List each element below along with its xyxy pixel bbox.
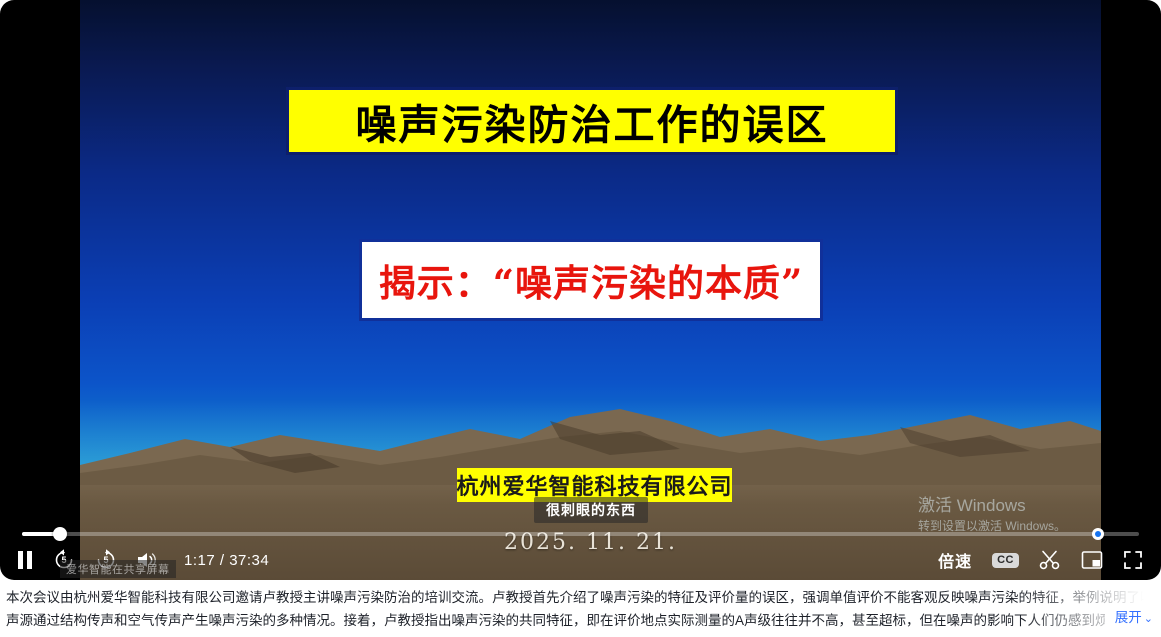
- closed-captions-button[interactable]: CC: [992, 553, 1019, 568]
- chapter-marker-dot[interactable]: [1092, 528, 1104, 540]
- fullscreen-icon[interactable]: [1123, 550, 1143, 570]
- playback-speed-button[interactable]: 倍速: [938, 548, 972, 572]
- rewind-5-seconds-button[interactable]: 5: [52, 548, 76, 572]
- pause-button[interactable]: [16, 550, 34, 570]
- video-description-text: 本次会议由杭州爱华智能科技有限公司邀请卢教授主讲噪声污染防治的培训交流。卢教授首…: [6, 586, 1155, 632]
- progress-bar[interactable]: [22, 532, 1139, 536]
- scissors-icon[interactable]: [1039, 549, 1061, 571]
- picture-in-picture-icon[interactable]: [1081, 550, 1103, 570]
- chevron-down-icon: ⌄: [1144, 613, 1153, 625]
- rewind-seconds-label: 5: [61, 555, 66, 565]
- forward-5-seconds-button[interactable]: 5: [94, 548, 118, 572]
- slide-subtitle-box: 揭示：“噪声污染的本质”: [359, 239, 823, 321]
- expand-label: 展开: [1115, 610, 1142, 625]
- slide-subtitle-text: 揭示：“噪声污染的本质”: [379, 253, 804, 307]
- video-player[interactable]: 噪声污染防治工作的误区 揭示：“噪声污染的本质” 杭州爱华智能科技有限公司 很刺…: [0, 0, 1161, 580]
- expand-description-button[interactable]: 展开⌄: [1105, 606, 1153, 631]
- slide-title-text: 噪声污染防治工作的误区: [356, 91, 829, 151]
- volume-button[interactable]: [136, 550, 160, 570]
- controls-left-group: 5 5 1:17 / 37:34: [16, 545, 269, 575]
- video-description: 本次会议由杭州爱华智能科技有限公司邀请卢教授主讲噪声污染防治的培训交流。卢教授首…: [0, 586, 1161, 637]
- controls-right-group: 倍速 CC: [938, 545, 1143, 575]
- video-frame[interactable]: 噪声污染防治工作的误区 揭示：“噪声污染的本质” 杭州爱华智能科技有限公司 很刺…: [80, 0, 1101, 580]
- slide-title-box: 噪声污染防治工作的误区: [286, 87, 898, 155]
- time-display: 1:17 / 37:34: [184, 552, 269, 569]
- forward-seconds-label: 5: [103, 555, 108, 565]
- annotation-tooltip: 很刺眼的东西: [534, 497, 648, 523]
- progress-handle[interactable]: [53, 527, 67, 541]
